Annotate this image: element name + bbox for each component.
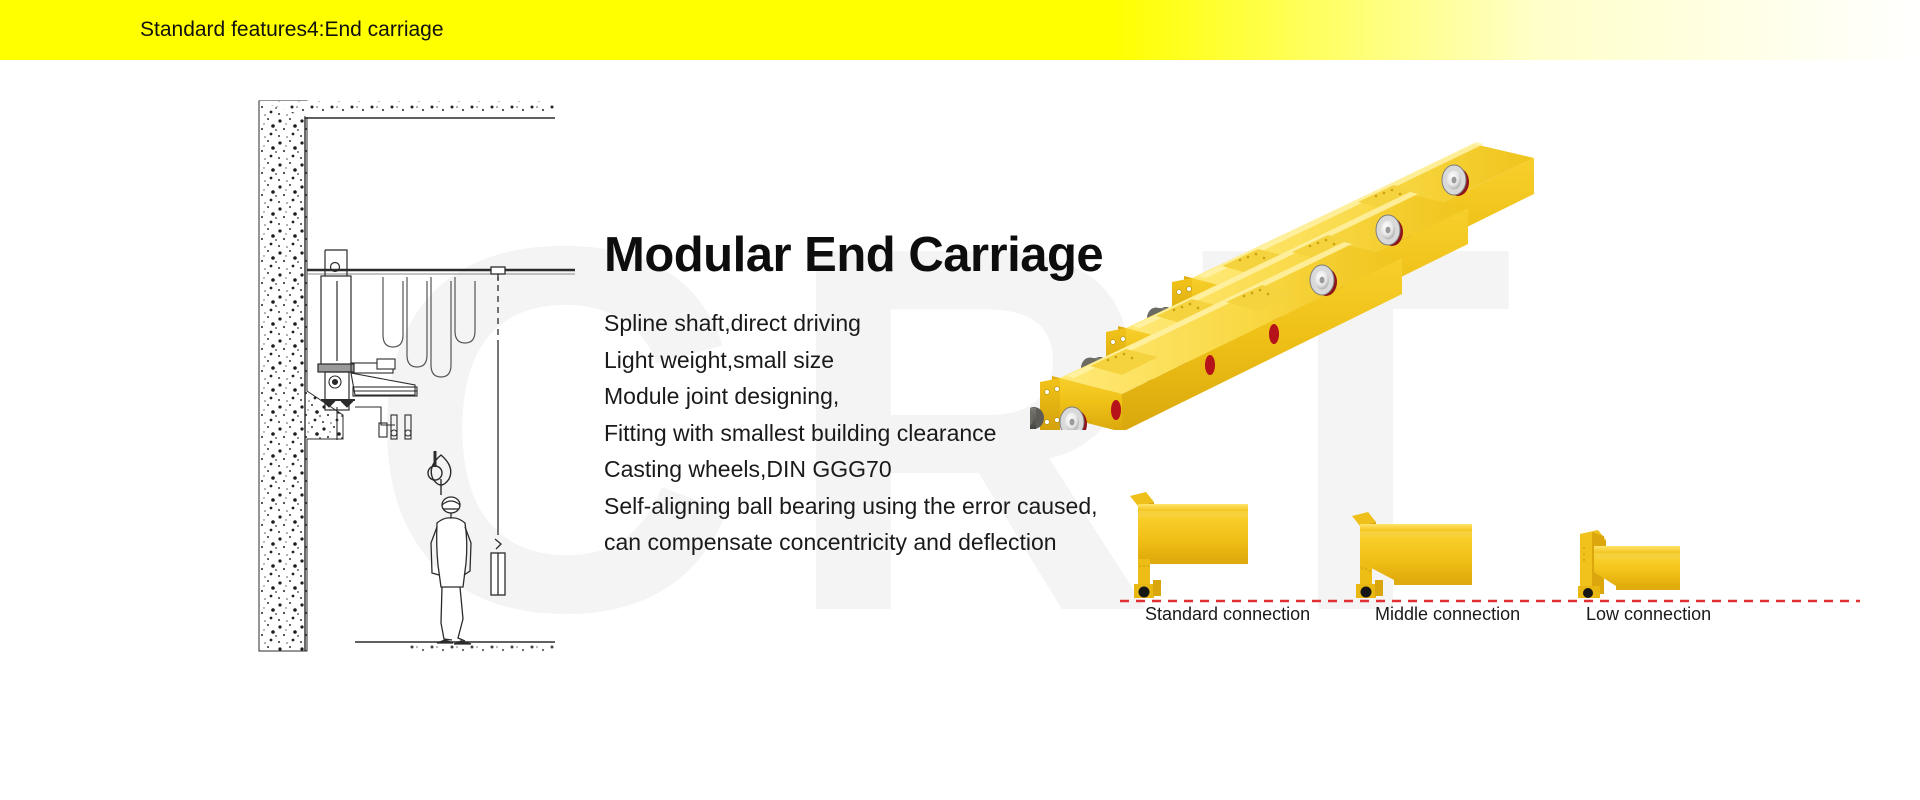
header-bar: Standard features4:End carriage — [0, 0, 1920, 60]
festoon-cables — [383, 277, 475, 377]
connection-standard — [1130, 492, 1248, 598]
header-title: Standard features4:End carriage — [140, 18, 444, 42]
connection-label-standard: Standard connection — [1145, 604, 1310, 625]
hook-block-symbol — [428, 451, 451, 495]
feature-item: Self-aligning ball bearing using the err… — [604, 488, 1164, 525]
hoist-column — [318, 276, 354, 410]
worker-figure — [431, 497, 471, 644]
feature-item: can compensate concentricity and deflect… — [604, 524, 1164, 561]
hoist-rope-and-load — [491, 267, 505, 595]
connection-middle — [1352, 512, 1472, 598]
connection-low — [1578, 530, 1680, 598]
product-render-image — [1030, 140, 1630, 430]
feature-item: Casting wheels,DIN GGG70 — [604, 451, 1164, 488]
connection-labels: Standard connection Middle connection Lo… — [1120, 604, 1880, 634]
slide-canvas: CRT Standard features4:End carriage — [0, 0, 1920, 800]
wall-bracket — [325, 250, 347, 276]
ceiling-section — [259, 101, 555, 118]
connection-label-low: Low connection — [1586, 604, 1711, 625]
technical-drawing — [255, 95, 575, 655]
connection-label-middle: Middle connection — [1375, 604, 1520, 625]
wall-section — [259, 101, 343, 651]
